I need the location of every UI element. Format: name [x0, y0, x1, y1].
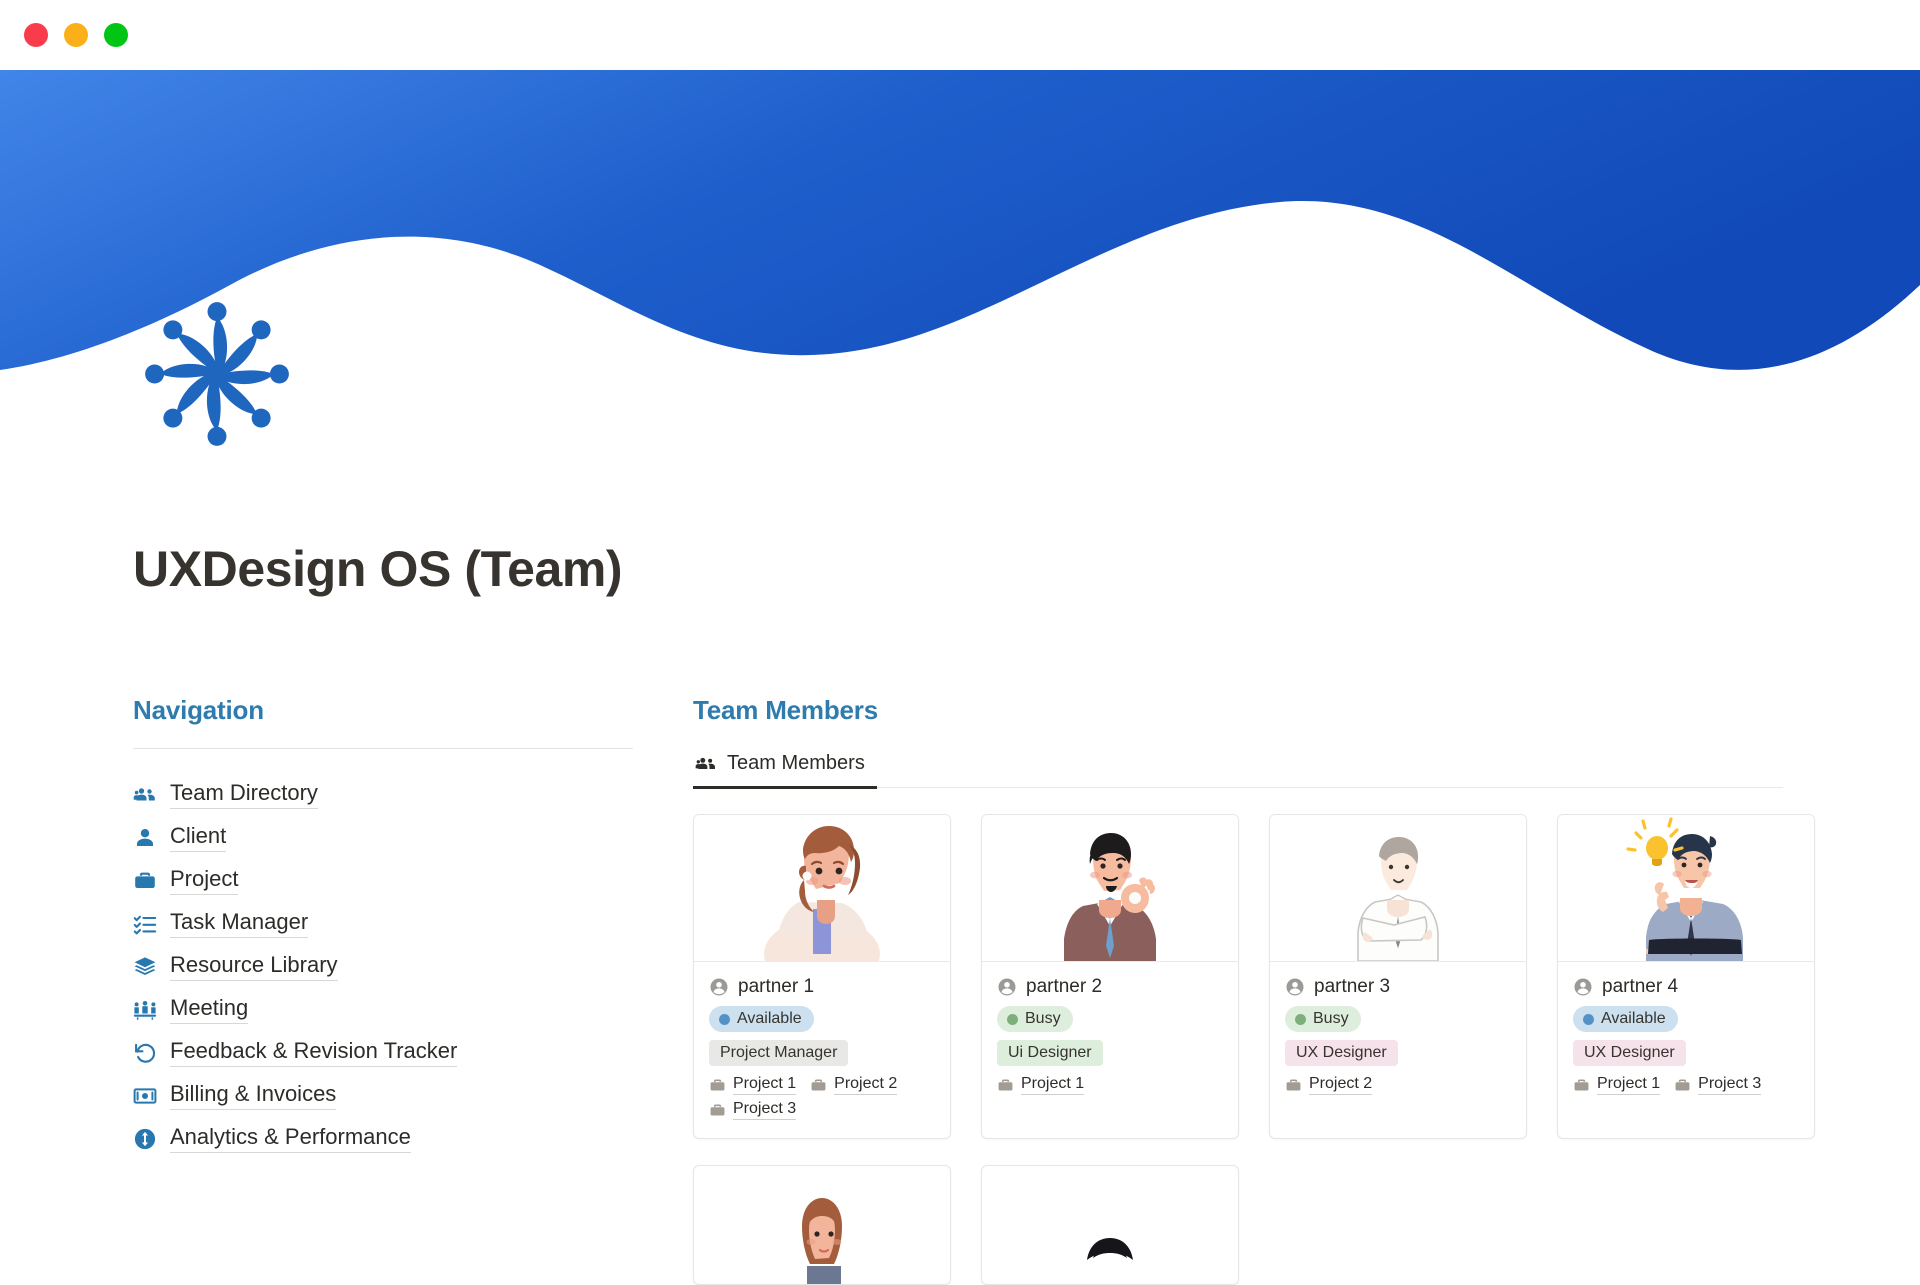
analytics-circle-icon	[133, 1127, 157, 1151]
member-card[interactable]: partner 2 Busy Ui Designer	[981, 814, 1239, 1139]
team-pinwheel-logo-icon	[138, 295, 296, 453]
status-label: Available	[1601, 1010, 1666, 1028]
briefcase-icon	[709, 1102, 726, 1119]
navigation-list: Team Directory Client	[133, 773, 633, 1160]
project-link[interactable]: Project 1	[1573, 1075, 1660, 1095]
avatar	[1270, 815, 1526, 962]
briefcase-icon	[1573, 1077, 1590, 1094]
project-row: Project 1 Project 3	[1573, 1075, 1799, 1095]
sidebar-item-meeting[interactable]: Meeting	[133, 988, 633, 1031]
meeting-people-icon	[133, 998, 157, 1022]
avatar	[1558, 815, 1814, 962]
avatar	[982, 815, 1238, 962]
person-icon	[133, 826, 157, 850]
sidebar-item-label: Task Manager	[170, 909, 308, 937]
briefcase-icon	[810, 1077, 827, 1094]
project-name: Project 2	[834, 1075, 897, 1095]
status-badge: Busy	[1285, 1006, 1361, 1032]
member-name: partner 4	[1602, 976, 1678, 998]
briefcase-icon	[133, 869, 157, 893]
status-badge: Busy	[997, 1006, 1073, 1032]
member-name-row: partner 1	[709, 976, 935, 998]
avatar	[694, 815, 950, 962]
member-card-body: partner 2 Busy Ui Designer	[982, 962, 1238, 1113]
person-circle-icon	[1573, 977, 1593, 997]
project-link[interactable]: Project 3	[1674, 1075, 1761, 1095]
member-card-body: partner 1 Available Project Manager	[694, 962, 950, 1138]
banknote-icon	[133, 1084, 157, 1108]
briefcase-icon	[997, 1077, 1014, 1094]
sidebar-item-billing-invoices[interactable]: Billing & Invoices	[133, 1074, 633, 1117]
sidebar-item-label: Meeting	[170, 995, 248, 1023]
sidebar-item-client[interactable]: Client	[133, 816, 633, 859]
person-circle-icon	[709, 977, 729, 997]
status-dot-icon	[1295, 1014, 1306, 1025]
navigation-panel: Navigation Team Directory	[133, 695, 633, 1160]
sidebar-item-label: Resource Library	[170, 952, 338, 980]
navigation-heading: Navigation	[133, 695, 633, 726]
project-link[interactable]: Project 1	[997, 1075, 1084, 1095]
team-members-panel: Team Members Team Members	[693, 695, 1823, 1285]
sidebar-item-label: Project	[170, 866, 238, 894]
sidebar-item-analytics-performance[interactable]: Analytics & Performance	[133, 1117, 633, 1160]
member-card-body: partner 3 Busy UX Designer	[1270, 962, 1526, 1113]
man-idea-lightbulb-avatar-icon	[1611, 815, 1761, 961]
close-window-button[interactable]	[24, 23, 48, 47]
briefcase-icon	[1285, 1077, 1302, 1094]
status-badge: Available	[709, 1006, 814, 1032]
member-card[interactable]	[981, 1165, 1239, 1285]
woman-brown-hair-avatar-icon	[747, 815, 897, 961]
people-group-icon	[133, 783, 157, 807]
project-link[interactable]: Project 2	[1285, 1075, 1372, 1095]
status-dot-icon	[719, 1014, 730, 1025]
project-name: Project 1	[1021, 1075, 1084, 1095]
member-name: partner 3	[1314, 976, 1390, 998]
project-row: Project 1 Project 2	[709, 1075, 935, 1095]
project-links: Project 2	[1285, 1075, 1511, 1095]
sidebar-item-resource-library[interactable]: Resource Library	[133, 945, 633, 988]
status-label: Busy	[1025, 1010, 1061, 1028]
sidebar-item-project[interactable]: Project	[133, 859, 633, 902]
project-link[interactable]: Project 2	[810, 1075, 897, 1095]
window-title-bar	[0, 0, 1920, 70]
member-name-row: partner 4	[1573, 976, 1799, 998]
team-members-heading: Team Members	[693, 695, 1823, 726]
layers-icon	[133, 955, 157, 979]
sidebar-item-label: Client	[170, 823, 226, 851]
page-title: UXDesign OS (Team)	[133, 540, 622, 598]
status-badge: Available	[1573, 1006, 1678, 1032]
page-content: UXDesign OS (Team) Navigation Team D	[0, 70, 1920, 1200]
dark-hair-avatar-icon	[1035, 1174, 1185, 1284]
member-card[interactable]: partner 1 Available Project Manager	[693, 814, 951, 1139]
sidebar-item-label: Feedback & Revision Tracker	[170, 1038, 457, 1066]
member-name-row: partner 3	[1285, 976, 1511, 998]
sidebar-item-task-manager[interactable]: Task Manager	[133, 902, 633, 945]
project-name: Project 1	[1597, 1075, 1660, 1095]
role-tag: UX Designer	[1285, 1040, 1398, 1066]
tab-team-members[interactable]: Team Members	[693, 748, 877, 789]
brand-logo	[138, 295, 296, 453]
status-dot-icon	[1007, 1014, 1018, 1025]
project-row: Project 3	[709, 1100, 935, 1120]
project-links: Project 1 Project 3	[1573, 1075, 1799, 1095]
sidebar-item-feedback-revision-tracker[interactable]: Feedback & Revision Tracker	[133, 1031, 633, 1074]
minimize-window-button[interactable]	[64, 23, 88, 47]
sidebar-item-label: Billing & Invoices	[170, 1081, 336, 1109]
navigation-divider	[133, 748, 633, 749]
window-traffic-lights	[24, 23, 128, 47]
man-ok-gesture-avatar-icon	[1035, 815, 1185, 961]
project-link[interactable]: Project 1	[709, 1075, 796, 1095]
maximize-window-button[interactable]	[104, 23, 128, 47]
member-card[interactable]: partner 4 Available UX Designer	[1557, 814, 1815, 1139]
person-circle-icon	[1285, 977, 1305, 997]
briefcase-icon	[1674, 1077, 1691, 1094]
tab-label: Team Members	[727, 752, 865, 775]
project-name: Project 2	[1309, 1075, 1372, 1095]
sidebar-item-label: Team Directory	[170, 780, 318, 808]
project-row: Project 1	[997, 1075, 1223, 1095]
project-name: Project 3	[733, 1100, 796, 1120]
member-card-body: partner 4 Available UX Designer	[1558, 962, 1814, 1113]
status-label: Busy	[1313, 1010, 1349, 1028]
man-arms-crossed-avatar-icon	[1323, 815, 1473, 961]
people-group-icon	[695, 753, 717, 775]
person-circle-icon	[997, 977, 1017, 997]
rotate-back-icon	[133, 1041, 157, 1065]
project-row: Project 2	[1285, 1075, 1511, 1095]
member-card-grid-overflow	[693, 1165, 1815, 1285]
sidebar-item-team-directory[interactable]: Team Directory	[133, 773, 633, 816]
member-card[interactable]: partner 3 Busy UX Designer	[1269, 814, 1527, 1139]
woman-long-hair-avatar-icon	[747, 1174, 897, 1284]
briefcase-icon	[709, 1077, 726, 1094]
status-label: Available	[737, 1010, 802, 1028]
role-tag: Project Manager	[709, 1040, 848, 1066]
project-name: Project 1	[733, 1075, 796, 1095]
member-card[interactable]	[693, 1165, 951, 1285]
sidebar-item-label: Analytics & Performance	[170, 1124, 411, 1152]
checklist-icon	[133, 912, 157, 936]
project-link[interactable]: Project 3	[709, 1100, 796, 1120]
team-tabs-bar: Team Members	[693, 748, 1783, 788]
member-name: partner 2	[1026, 976, 1102, 998]
project-name: Project 3	[1698, 1075, 1761, 1095]
role-tag: UX Designer	[1573, 1040, 1686, 1066]
member-name: partner 1	[738, 976, 814, 998]
status-dot-icon	[1583, 1014, 1594, 1025]
member-card-grid: partner 1 Available Project Manager	[693, 814, 1815, 1139]
member-name-row: partner 2	[997, 976, 1223, 998]
project-links: Project 1 Project 2	[709, 1075, 935, 1120]
role-tag: Ui Designer	[997, 1040, 1103, 1066]
project-links: Project 1	[997, 1075, 1223, 1095]
